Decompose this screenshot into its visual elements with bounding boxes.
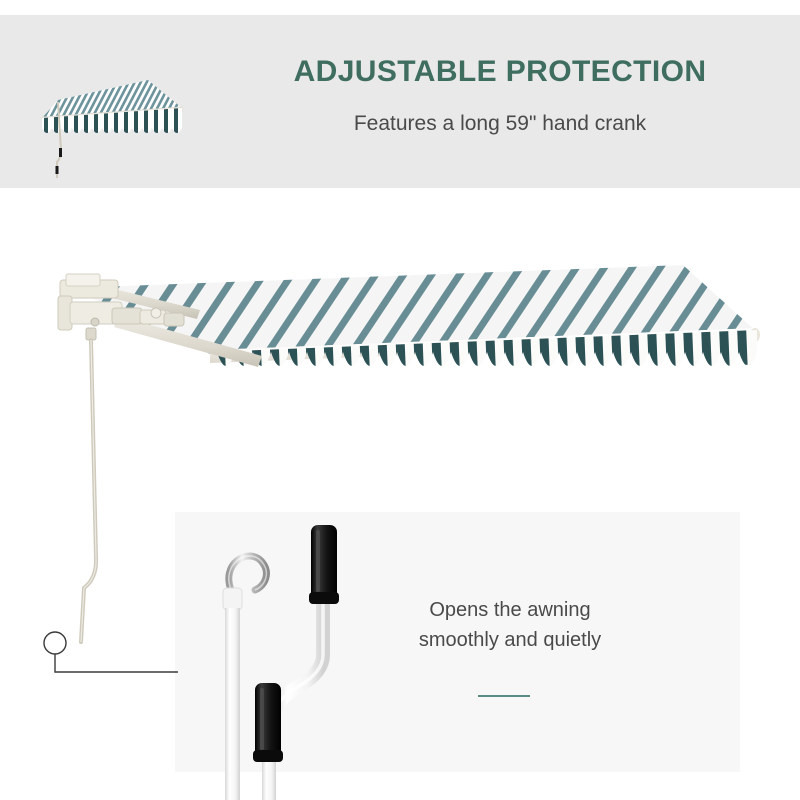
feature-description: Opens the awning smoothly and quietly (345, 595, 675, 655)
page-subtitle: Features a long 59" hand crank (215, 112, 785, 136)
crank-hook-icon (223, 556, 266, 800)
feature-description-line-2: smoothly and quietly (345, 625, 675, 655)
awning-thumbnail-icon (30, 66, 200, 181)
feature-description-line-1: Opens the awning (345, 595, 675, 625)
product-feature-image: ADJUSTABLE PROTECTION Features a long 59… (0, 0, 800, 800)
panel-divider (478, 695, 530, 697)
callout-circle-marker (44, 632, 66, 654)
page-title: ADJUSTABLE PROTECTION (215, 55, 785, 89)
